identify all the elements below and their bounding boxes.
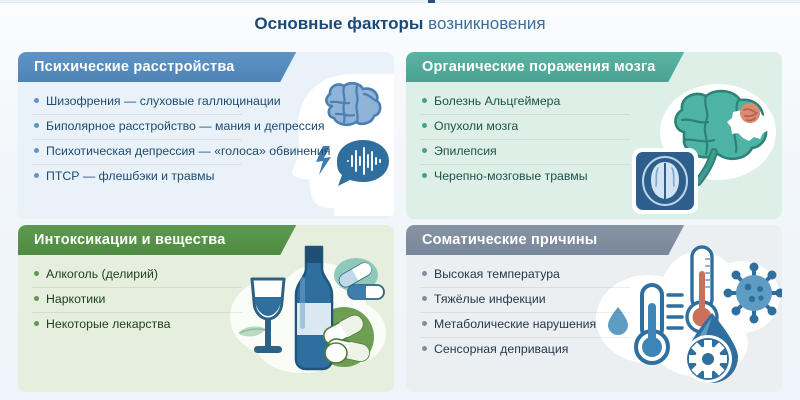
page-title-light: возникновения (428, 14, 545, 33)
bullet-icon (422, 271, 427, 276)
bullet-icon (422, 173, 427, 178)
list-item: Некоторые лекарства (32, 312, 394, 337)
bullet-icon (422, 346, 427, 351)
bullet-icon (34, 123, 39, 128)
bullet-icon (34, 173, 39, 178)
card-header-psychiatric: Психические расстройства (18, 52, 296, 82)
list-item-label: Эпилепсия (434, 144, 497, 159)
list-intoxication: Алкоголь (делирий) Наркотики Некоторые л… (18, 255, 394, 337)
bullet-icon (34, 296, 39, 301)
page-title-strong: Основные факторы (254, 14, 423, 33)
list-item-label: Биполярное расстройство — мания и депрес… (46, 119, 325, 134)
list-item: Психотическая депрессия — «голоса» обвин… (32, 139, 394, 164)
list-item-label: Некоторые лекарства (46, 317, 170, 332)
list-item: Высокая температура (420, 262, 782, 287)
bullet-icon (34, 321, 39, 326)
top-edge-mark (428, 0, 435, 3)
list-item-label: Шизофрения — слуховые галлюцинации (46, 94, 281, 109)
list-item-label: Метаболические нарушения (434, 317, 596, 332)
factors-grid: Психические расстройства (18, 52, 782, 392)
list-item: Черепно-мозговые травмы (420, 164, 782, 189)
card-intoxication-substances: Интоксикации и вещества (18, 225, 394, 392)
card-organic-brain-lesions: Органические поражения мозга (406, 52, 782, 219)
list-item: Метаболические нарушения (420, 312, 782, 337)
bullet-icon (422, 296, 427, 301)
bullet-icon (422, 148, 427, 153)
list-item: Тяжёлые инфекции (420, 287, 782, 312)
bullet-icon (34, 148, 39, 153)
bullet-icon (422, 321, 427, 326)
list-item-label: Болезнь Альцгеймера (434, 94, 560, 109)
list-item: Биполярное расстройство — мания и депрес… (32, 114, 394, 139)
list-item-label: Сенсорная депривация (434, 342, 568, 357)
list-item: Наркотики (32, 287, 394, 312)
card-header-organic: Органические поражения мозга (406, 52, 684, 82)
bullet-icon (34, 98, 39, 103)
bullet-icon (422, 123, 427, 128)
list-item-label: Наркотики (46, 292, 105, 307)
list-item: Сенсорная депривация (420, 337, 782, 362)
list-organic: Болезнь Альцгеймера Опухоли мозга Эпилеп… (406, 82, 782, 189)
list-psychiatric: Шизофрения — слуховые галлюцинации Бипол… (18, 82, 394, 189)
list-item: Шизофрения — слуховые галлюцинации (32, 89, 394, 114)
list-item-label: Черепно-мозговые травмы (434, 169, 588, 184)
list-item: Опухоли мозга (420, 114, 782, 139)
list-item-label: Тяжёлые инфекции (434, 292, 546, 307)
list-item-label: Опухоли мозга (434, 119, 518, 134)
list-item: ПТСР — флешбэки и травмы (32, 164, 394, 189)
list-item: Алкоголь (делирий) (32, 262, 394, 287)
list-item-label: ПТСР — флешбэки и травмы (46, 169, 214, 184)
list-item: Эпилепсия (420, 139, 782, 164)
list-item: Болезнь Альцгеймера (420, 89, 782, 114)
top-edge-sliver (0, 0, 800, 3)
bullet-icon (422, 98, 427, 103)
page-title: Основные факторы возникновения (0, 13, 800, 35)
card-psychiatric-disorders: Психические расстройства (18, 52, 394, 219)
card-somatic-causes: Соматические причины (406, 225, 782, 392)
list-item-label: Психотическая депрессия — «голоса» обвин… (46, 144, 330, 159)
card-header-intoxication: Интоксикации и вещества (18, 225, 296, 255)
bullet-icon (34, 271, 39, 276)
list-somatic: Высокая температура Тяжёлые инфекции Мет… (406, 255, 782, 362)
list-item-label: Высокая температура (434, 267, 560, 282)
list-item-label: Алкоголь (делирий) (46, 267, 158, 282)
card-header-somatic: Соматические причины (406, 225, 684, 255)
